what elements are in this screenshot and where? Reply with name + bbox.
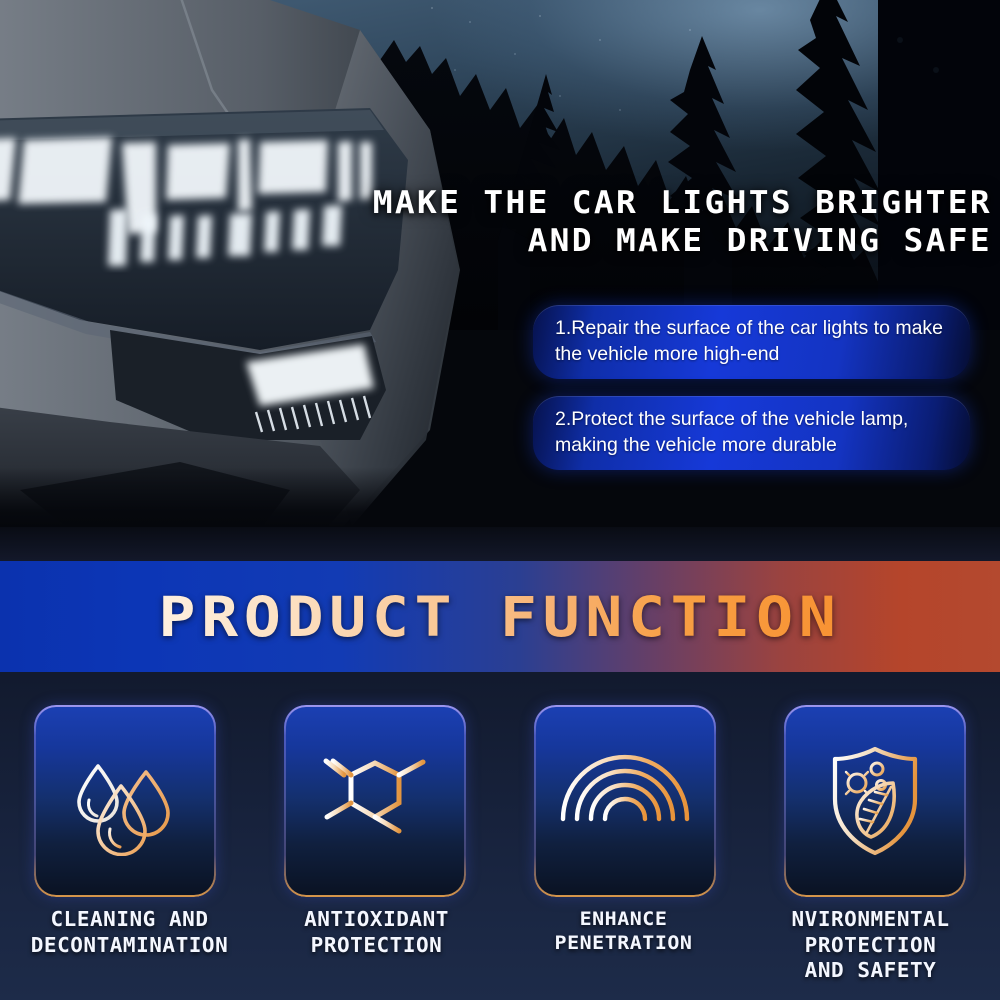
feature-label-enhance-penetration: ENHANCE PENETRATION — [494, 907, 753, 984]
feature-bullet-1: 1.Repair the surface of the car lights t… — [533, 305, 970, 379]
water-droplets-icon — [34, 705, 216, 897]
product-function-banner: PRODUCT FUNCTION — [0, 561, 1000, 672]
label-line-2: PENETRATION — [494, 931, 753, 955]
car-headlight-photo — [0, 0, 580, 527]
shield-leaf-icon — [784, 705, 966, 897]
feature-bullet-2-text: 2.Protect the surface of the vehicle lam… — [555, 408, 908, 456]
headline-line-1: MAKE THE CAR LIGHTS BRIGHTER — [373, 185, 992, 221]
label-line-2: PROTECTION — [741, 933, 1000, 959]
feature-card-antioxidant-protection[interactable] — [284, 705, 466, 897]
label-line-1: ANTIOXIDANT — [247, 907, 506, 933]
feature-labels-row: CLEANING AND DECONTAMINATION ANTIOXIDANT… — [0, 907, 1000, 984]
feature-card-cleaning-and-decontamination[interactable] — [34, 705, 216, 897]
label-line-3: AND SAFETY — [741, 958, 1000, 984]
hero-photo-section: MAKE THE CAR LIGHTS BRIGHTER AND MAKE DR… — [0, 0, 1000, 527]
feature-label-antioxidant-protection: ANTIOXIDANT PROTECTION — [247, 907, 506, 984]
product-function-section: CLEANING AND DECONTAMINATION ANTIOXIDANT… — [0, 672, 1000, 1000]
concentric-arcs-icon — [534, 705, 716, 897]
feature-cards-row — [0, 705, 1000, 905]
feature-card-enhance-penetration[interactable] — [534, 705, 716, 897]
feature-bullet-1-text: 1.Repair the surface of the car lights t… — [555, 317, 943, 365]
label-line-1: NVIRONMENTAL — [741, 907, 1000, 933]
label-line-2: PROTECTION — [247, 933, 506, 959]
hero-headline: MAKE THE CAR LIGHTS BRIGHTER AND MAKE DR… — [314, 185, 992, 261]
banner-title: PRODUCT FUNCTION — [159, 585, 842, 649]
banner-top-divider — [0, 527, 1000, 561]
label-line-2: DECONTAMINATION — [0, 933, 259, 959]
feature-label-cleaning-and-decontamination: CLEANING AND DECONTAMINATION — [0, 907, 259, 984]
label-line-1: ENHANCE — [494, 907, 753, 931]
headline-line-2: AND MAKE DRIVING SAFE — [314, 223, 992, 261]
product-infographic-page: MAKE THE CAR LIGHTS BRIGHTER AND MAKE DR… — [0, 0, 1000, 1000]
molecule-hexagon-icon — [284, 705, 466, 897]
hero-bottom-fade — [0, 467, 1000, 527]
feature-label-environmental-protection-and-safety: NVIRONMENTAL PROTECTION AND SAFETY — [741, 907, 1000, 984]
feature-bullet-2: 2.Protect the surface of the vehicle lam… — [533, 396, 970, 470]
label-line-1: CLEANING AND — [0, 907, 259, 933]
feature-card-environmental-protection-and-safety[interactable] — [784, 705, 966, 897]
